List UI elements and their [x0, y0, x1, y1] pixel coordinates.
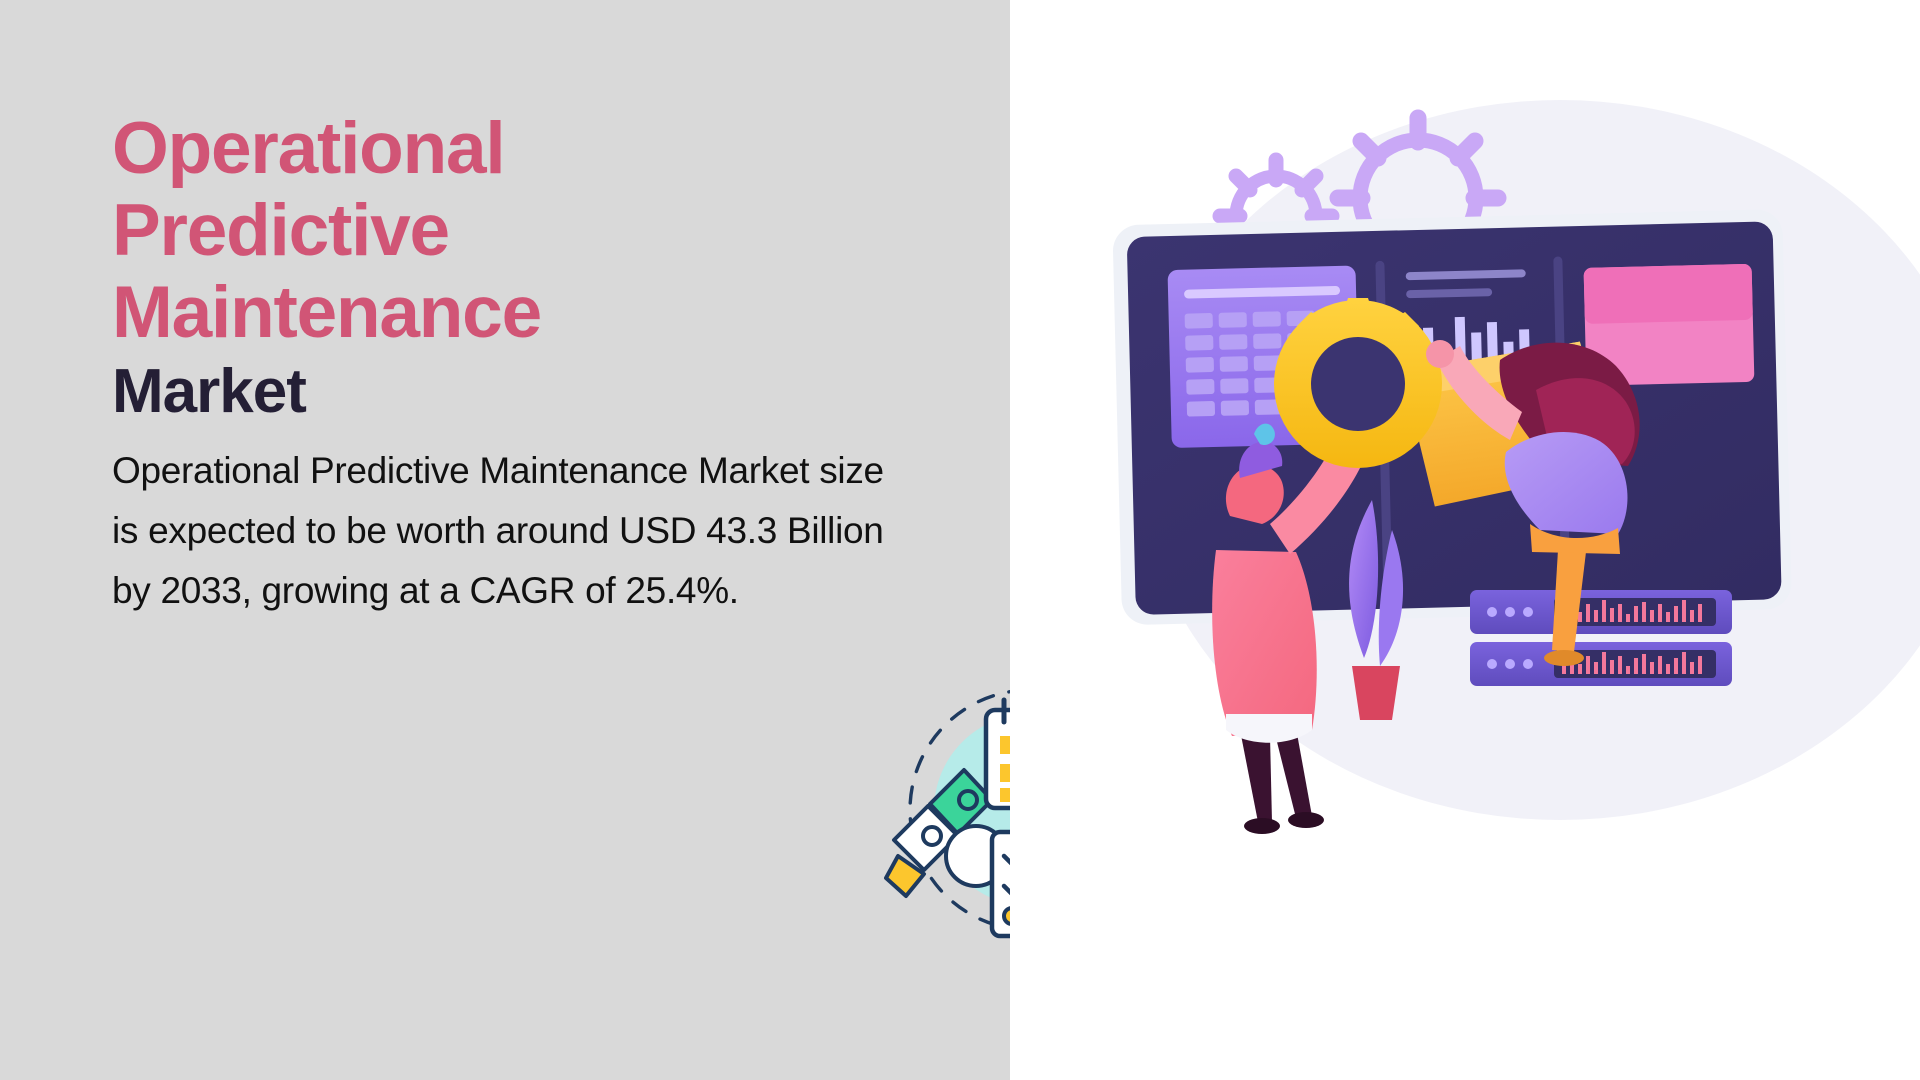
left-content-pane: Operational Predictive Maintenance Marke… — [0, 0, 1010, 1080]
page-subtitle: Market — [112, 357, 932, 426]
analytics-dashboard-illustration — [1010, 30, 1920, 1050]
headline-line-2: Predictive — [112, 190, 449, 271]
poster-root: Operational Predictive Maintenance Marke… — [0, 0, 1920, 1080]
page-title: Operational Predictive Maintenance — [112, 108, 932, 353]
market-summary-text: Operational Predictive Maintenance Marke… — [112, 441, 902, 621]
illustration-pane — [1010, 0, 1920, 1080]
headline-line-1: Operational — [112, 108, 504, 189]
text-block: Operational Predictive Maintenance Marke… — [112, 108, 932, 621]
headline-line-3: Maintenance — [112, 272, 541, 353]
plant-pot — [1352, 666, 1400, 720]
